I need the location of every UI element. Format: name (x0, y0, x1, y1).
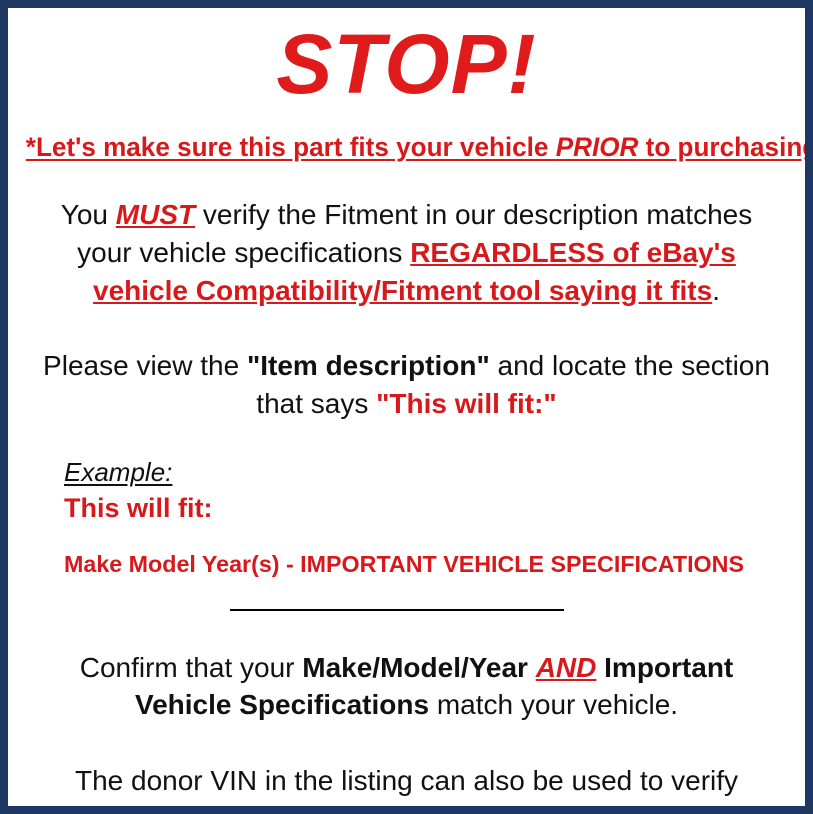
subtitle-line: *Let's make sure this part fits your veh… (24, 132, 789, 164)
example-label: Example: (64, 458, 172, 488)
paragraph-must: You MUST verify the Fitment in our descr… (18, 196, 795, 309)
confirm-seg1: Confirm that your (80, 652, 303, 683)
example-spec-line: Make Model Year(s) - IMPORTANT VEHICLE S… (64, 550, 788, 578)
paragraph-view: Please view the "Item description" and l… (18, 347, 795, 422)
confirm-emphasis-make-model-year: Make/Model/Year (302, 652, 528, 683)
must-emphasis-must: MUST (116, 199, 195, 230)
confirm-seg2 (528, 652, 536, 683)
subtitle-emphasis-prior: PRIOR (556, 132, 639, 162)
must-seg1: You (61, 199, 116, 230)
fitment-notice-card: STOP! *Let's make sure this part fits yo… (0, 0, 813, 814)
horizontal-divider (230, 609, 564, 611)
paragraph-confirm: Confirm that your Make/Model/Year AND Im… (18, 649, 795, 724)
confirm-seg4: match your vehicle. (429, 689, 678, 720)
example-fit-line: This will fit: (64, 492, 795, 524)
paragraph-vin: The donor VIN in the listing can also be… (18, 762, 795, 814)
subtitle-part1: *Let's make sure this part fits your veh… (26, 132, 556, 162)
subtitle-part2: to purchasing* (638, 132, 813, 162)
view-seg1: Please view the (43, 350, 247, 381)
view-emphasis-this-will-fit: "This will fit:" (376, 388, 557, 419)
confirm-emphasis-and: AND (536, 652, 597, 683)
confirm-seg3 (596, 652, 604, 683)
must-seg3: . (712, 275, 720, 306)
view-emphasis-item-description: "Item description" (247, 350, 490, 381)
subtitle-underline-group: *Let's make sure this part fits your veh… (26, 132, 813, 162)
example-block: Example: This will fit: Make Model Year(… (18, 458, 795, 578)
notice-inner: STOP! *Let's make sure this part fits yo… (8, 22, 805, 814)
stop-heading: STOP! (18, 22, 795, 106)
divider-wrap (18, 603, 795, 617)
